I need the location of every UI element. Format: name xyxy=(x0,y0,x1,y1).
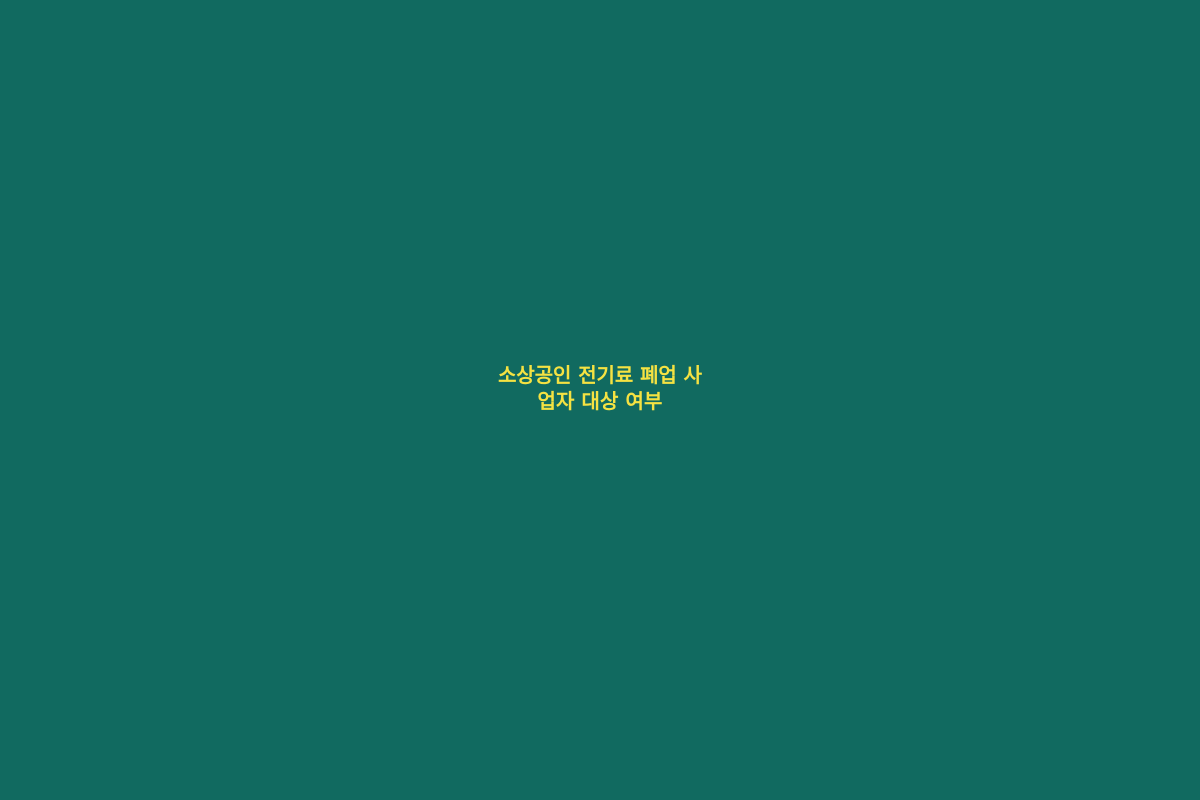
title-line-1: 소상공인 전기료 폐업 사 xyxy=(60,362,1140,388)
page-title: 소상공인 전기료 폐업 사 업자 대상 여부 xyxy=(60,362,1140,415)
title-banner: 소상공인 전기료 폐업 사 업자 대상 여부 xyxy=(0,0,1200,800)
title-line-2: 업자 대상 여부 xyxy=(60,388,1140,414)
